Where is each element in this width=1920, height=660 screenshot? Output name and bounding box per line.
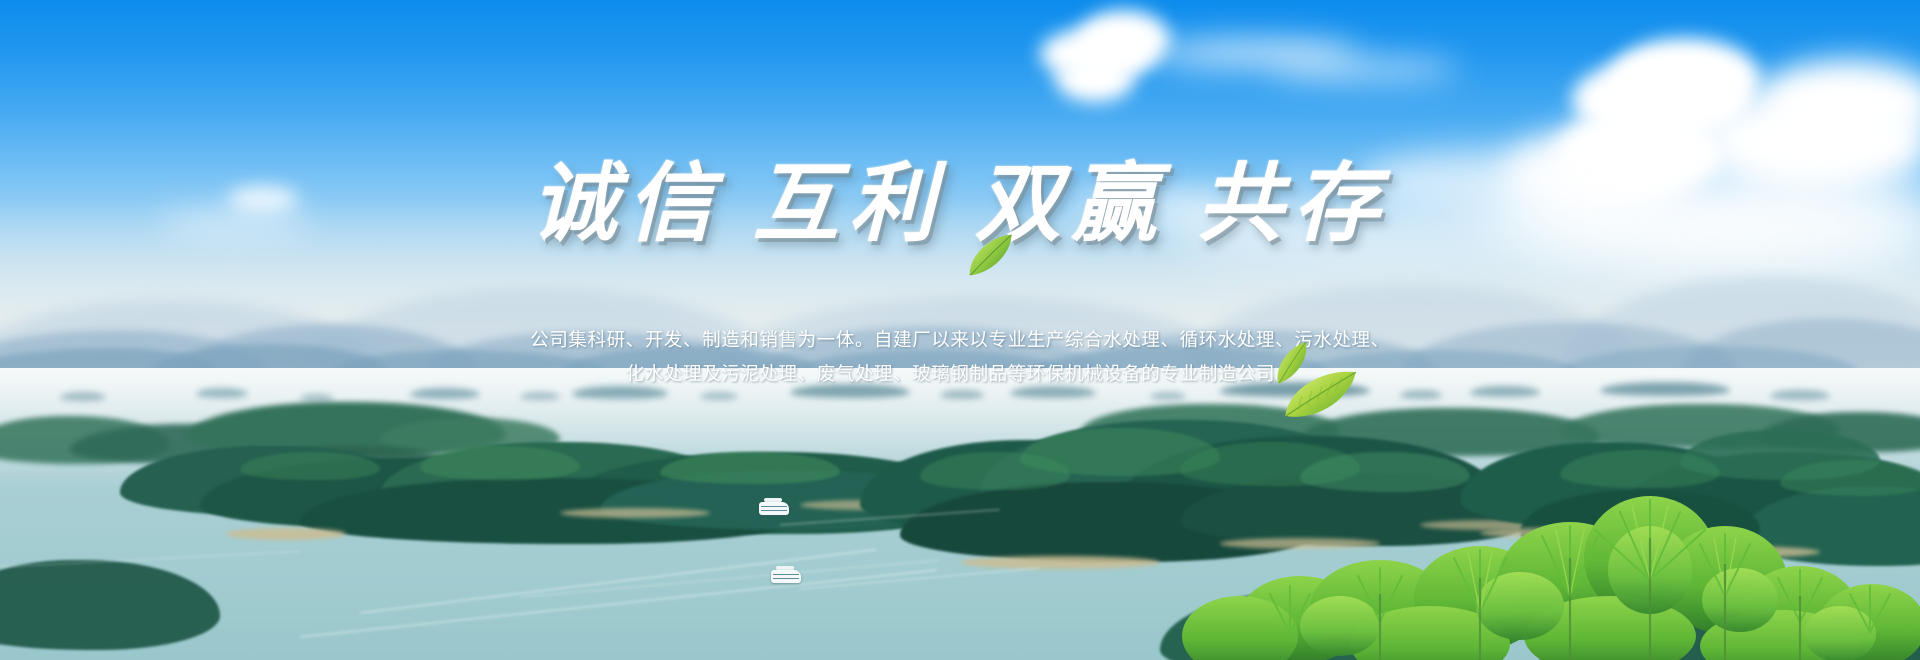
subtitle-line-1: 公司集科研、开发、制造和销售为一体。自建厂以来以专业生产综合水处理、循环水处理、… bbox=[0, 326, 1920, 352]
boat-upper bbox=[758, 498, 790, 520]
headline-segment-1: 诚信 bbox=[531, 158, 723, 250]
page-title: 诚信互利双赢共存 bbox=[0, 158, 1920, 250]
headline-segment-2: 互利 bbox=[753, 158, 945, 250]
boat-lower bbox=[770, 566, 802, 588]
subtitle-line-2: 化水处理及污泥处理、废气处理、玻璃钢制品等环保机械设备的专业制造公司。 bbox=[0, 360, 1920, 386]
headline-segment-4: 共存 bbox=[1197, 158, 1389, 250]
hero-banner: 诚信互利双赢共存 公司集科研、开发、制造和销售为一体。自建厂以来以专业生产综合水… bbox=[0, 0, 1920, 660]
foreground-pine-foliage bbox=[1180, 430, 1920, 660]
